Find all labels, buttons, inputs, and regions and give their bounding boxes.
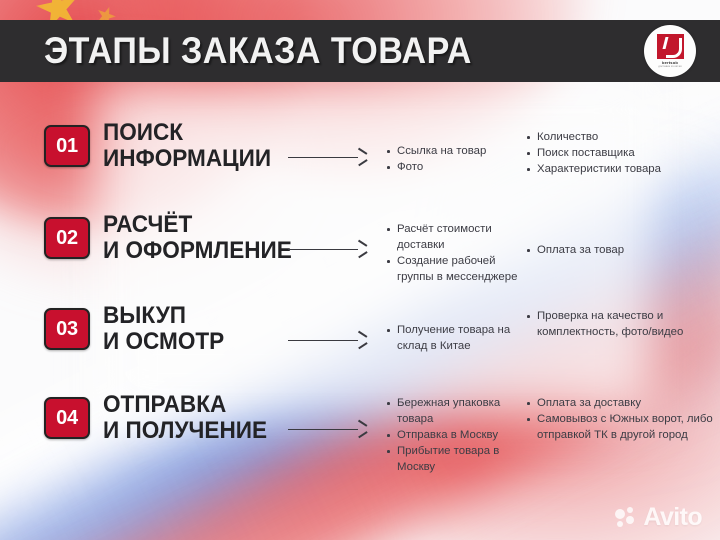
bullet-list: Получение товара на склад в Китае xyxy=(386,323,518,354)
step-row: 03 ВЫКУП И ОСМОТР Получение товара на ск… xyxy=(0,303,720,393)
list-item: Характеристики товара xyxy=(526,162,718,178)
list-item: Ссылка на товар xyxy=(386,144,518,160)
list-item: Проверка на качество и комплектность, фо… xyxy=(526,309,718,340)
list-item: Получение товара на склад в Китае xyxy=(386,323,518,354)
step-title-line2: И ОСМОТР xyxy=(103,329,224,355)
step-number: 03 xyxy=(56,318,78,341)
step-row: 01 ПОИСК ИНФОРМАЦИИ Ссылка на товар Фото xyxy=(0,120,720,210)
list-item: Отправка в Москву xyxy=(386,428,518,444)
step-heading: 03 ВЫКУП И ОСМОТР xyxy=(44,303,232,355)
arrow-right-icon xyxy=(288,424,366,434)
avito-dots-icon xyxy=(615,507,638,528)
list-item: Поиск поставщика xyxy=(526,146,718,162)
avito-watermark: Avito xyxy=(615,505,702,530)
step-title-line2: И ОФОРМЛЕНИЕ xyxy=(103,238,292,264)
bullet-list: Проверка на качество и комплектность, фо… xyxy=(526,309,718,340)
detail-column-middle: Ссылка на товар Фото xyxy=(386,144,518,176)
step-number-badge: 04 xyxy=(44,397,90,439)
list-item: Прибытие товара в Москву xyxy=(386,444,518,475)
step-number-badge: 02 xyxy=(44,217,90,259)
bullet-list: Бережная упаковка товара Отправка в Моск… xyxy=(386,396,518,476)
list-item: Самовывоз с Южных ворот, либо отправкой … xyxy=(526,412,718,443)
list-item: Оплата за доставку xyxy=(526,396,718,412)
step-title-line2: И ПОЛУЧЕНИЕ xyxy=(103,418,267,444)
step-title-line1: ОТПРАВКА xyxy=(103,391,226,418)
bullet-list: Количество Поиск поставщика Характеристи… xyxy=(526,130,718,178)
header-bar: ЭТАПЫ ЗАКАЗА ТОВАРА bertsob доставка из … xyxy=(0,20,720,82)
detail-column-right: Количество Поиск поставщика Характеристи… xyxy=(526,130,718,179)
step-title: ПОИСК ИНФОРМАЦИИ xyxy=(103,120,271,172)
logo-tagline-text: доставка из китая xyxy=(658,65,681,68)
detail-column-right: Оплата за доставку Самовывоз с Южных вор… xyxy=(526,396,718,444)
arrow-right-icon xyxy=(288,244,366,254)
step-number: 04 xyxy=(56,407,78,430)
step-title-line2: ИНФОРМАЦИИ xyxy=(103,146,271,172)
list-item: Создание рабочей группы в мессенджере xyxy=(386,254,518,285)
bullet-list: Оплата за товар xyxy=(526,243,718,259)
detail-column-middle: Расчёт стоимости доставки Создание рабоч… xyxy=(386,222,518,286)
page-title: ЭТАПЫ ЗАКАЗА ТОВАРА xyxy=(44,30,472,72)
bullet-list: Расчёт стоимости доставки Создание рабоч… xyxy=(386,222,518,285)
step-title-line1: РАСЧЁТ xyxy=(103,211,192,238)
detail-column-right: Проверка на качество и комплектность, фо… xyxy=(526,309,718,341)
step-title-line1: ПОИСК xyxy=(103,119,183,146)
avito-wordmark: Avito xyxy=(643,505,702,530)
step-number: 01 xyxy=(56,135,78,158)
step-heading: 01 ПОИСК ИНФОРМАЦИИ xyxy=(44,120,282,172)
step-title: РАСЧЁТ И ОФОРМЛЕНИЕ xyxy=(103,212,292,264)
step-heading: 02 РАСЧЁТ И ОФОРМЛЕНИЕ xyxy=(44,212,304,264)
list-item: Фото xyxy=(386,160,518,176)
detail-column-middle: Получение товара на склад в Китае xyxy=(386,323,518,355)
step-row: 02 РАСЧЁТ И ОФОРМЛЕНИЕ Расчёт стоимости … xyxy=(0,212,720,302)
step-number-badge: 03 xyxy=(44,308,90,350)
step-heading: 04 ОТПРАВКА И ПОЛУЧЕНИЕ xyxy=(44,392,277,444)
step-title: ОТПРАВКА И ПОЛУЧЕНИЕ xyxy=(103,392,267,444)
step-number: 02 xyxy=(56,227,78,250)
list-item: Количество xyxy=(526,130,718,146)
list-item: Бережная упаковка товара xyxy=(386,396,518,427)
logo-mark-icon xyxy=(657,34,684,59)
bullet-list: Ссылка на товар Фото xyxy=(386,144,518,176)
list-item: Расчёт стоимости доставки xyxy=(386,222,518,253)
step-title-line1: ВЫКУП xyxy=(103,302,186,329)
step-row: 04 ОТПРАВКА И ПОЛУЧЕНИЕ Бережная упаковк… xyxy=(0,392,720,482)
arrow-right-icon xyxy=(288,152,366,162)
detail-column-right: Оплата за товар xyxy=(526,243,718,259)
step-title: ВЫКУП И ОСМОТР xyxy=(103,303,224,355)
arrow-right-icon xyxy=(288,335,366,345)
list-item: Оплата за товар xyxy=(526,243,718,259)
bullet-list: Оплата за доставку Самовывоз с Южных вор… xyxy=(526,396,718,444)
detail-column-middle: Бережная упаковка товара Отправка в Моск… xyxy=(386,396,518,476)
company-logo: bertsob доставка из китая xyxy=(644,25,696,77)
infographic-poster: ЭТАПЫ ЗАКАЗА ТОВАРА bertsob доставка из … xyxy=(0,0,720,540)
step-number-badge: 01 xyxy=(44,125,90,167)
